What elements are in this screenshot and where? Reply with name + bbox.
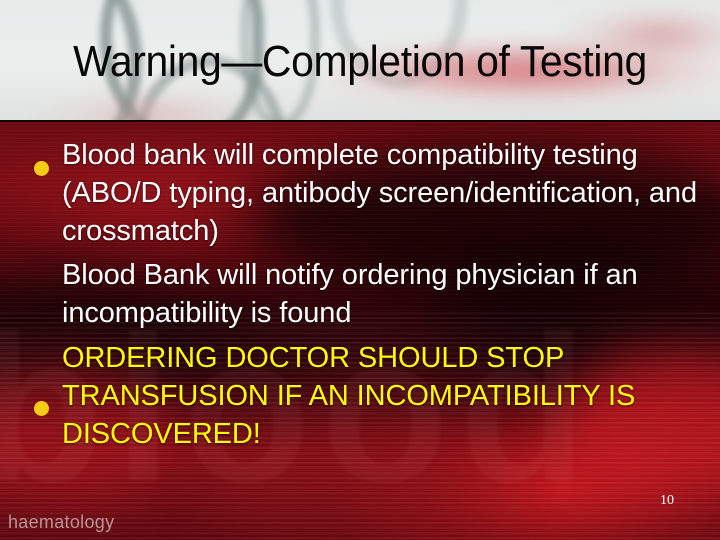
slide-title-band: Warning—Completion of Testing (0, 0, 720, 122)
bullet-dot-icon (34, 161, 49, 176)
page-title: Warning—Completion of Testing (25, 36, 695, 88)
list-item: Blood Bank will notify ordering physicia… (34, 256, 706, 332)
list-item-text: Blood Bank will notify ordering physicia… (62, 256, 706, 332)
list-item-text: Blood bank will complete compatibility t… (62, 136, 706, 250)
footer-label: haematology (8, 511, 114, 533)
presentation-slide: Warning—Completion of Testing blood Bloo… (0, 0, 720, 540)
list-item-text: ORDERING DOCTOR SHOULD STOP TRANSFUSION … (62, 339, 706, 453)
page-number: 10 (660, 493, 700, 509)
list-item: ORDERING DOCTOR SHOULD STOP TRANSFUSION … (34, 339, 706, 453)
slide-body: blood Blood bank will complete compatibi… (0, 122, 720, 540)
header-pink-smear-bottom (30, 95, 270, 122)
list-item: Blood bank will complete compatibility t… (34, 136, 706, 250)
